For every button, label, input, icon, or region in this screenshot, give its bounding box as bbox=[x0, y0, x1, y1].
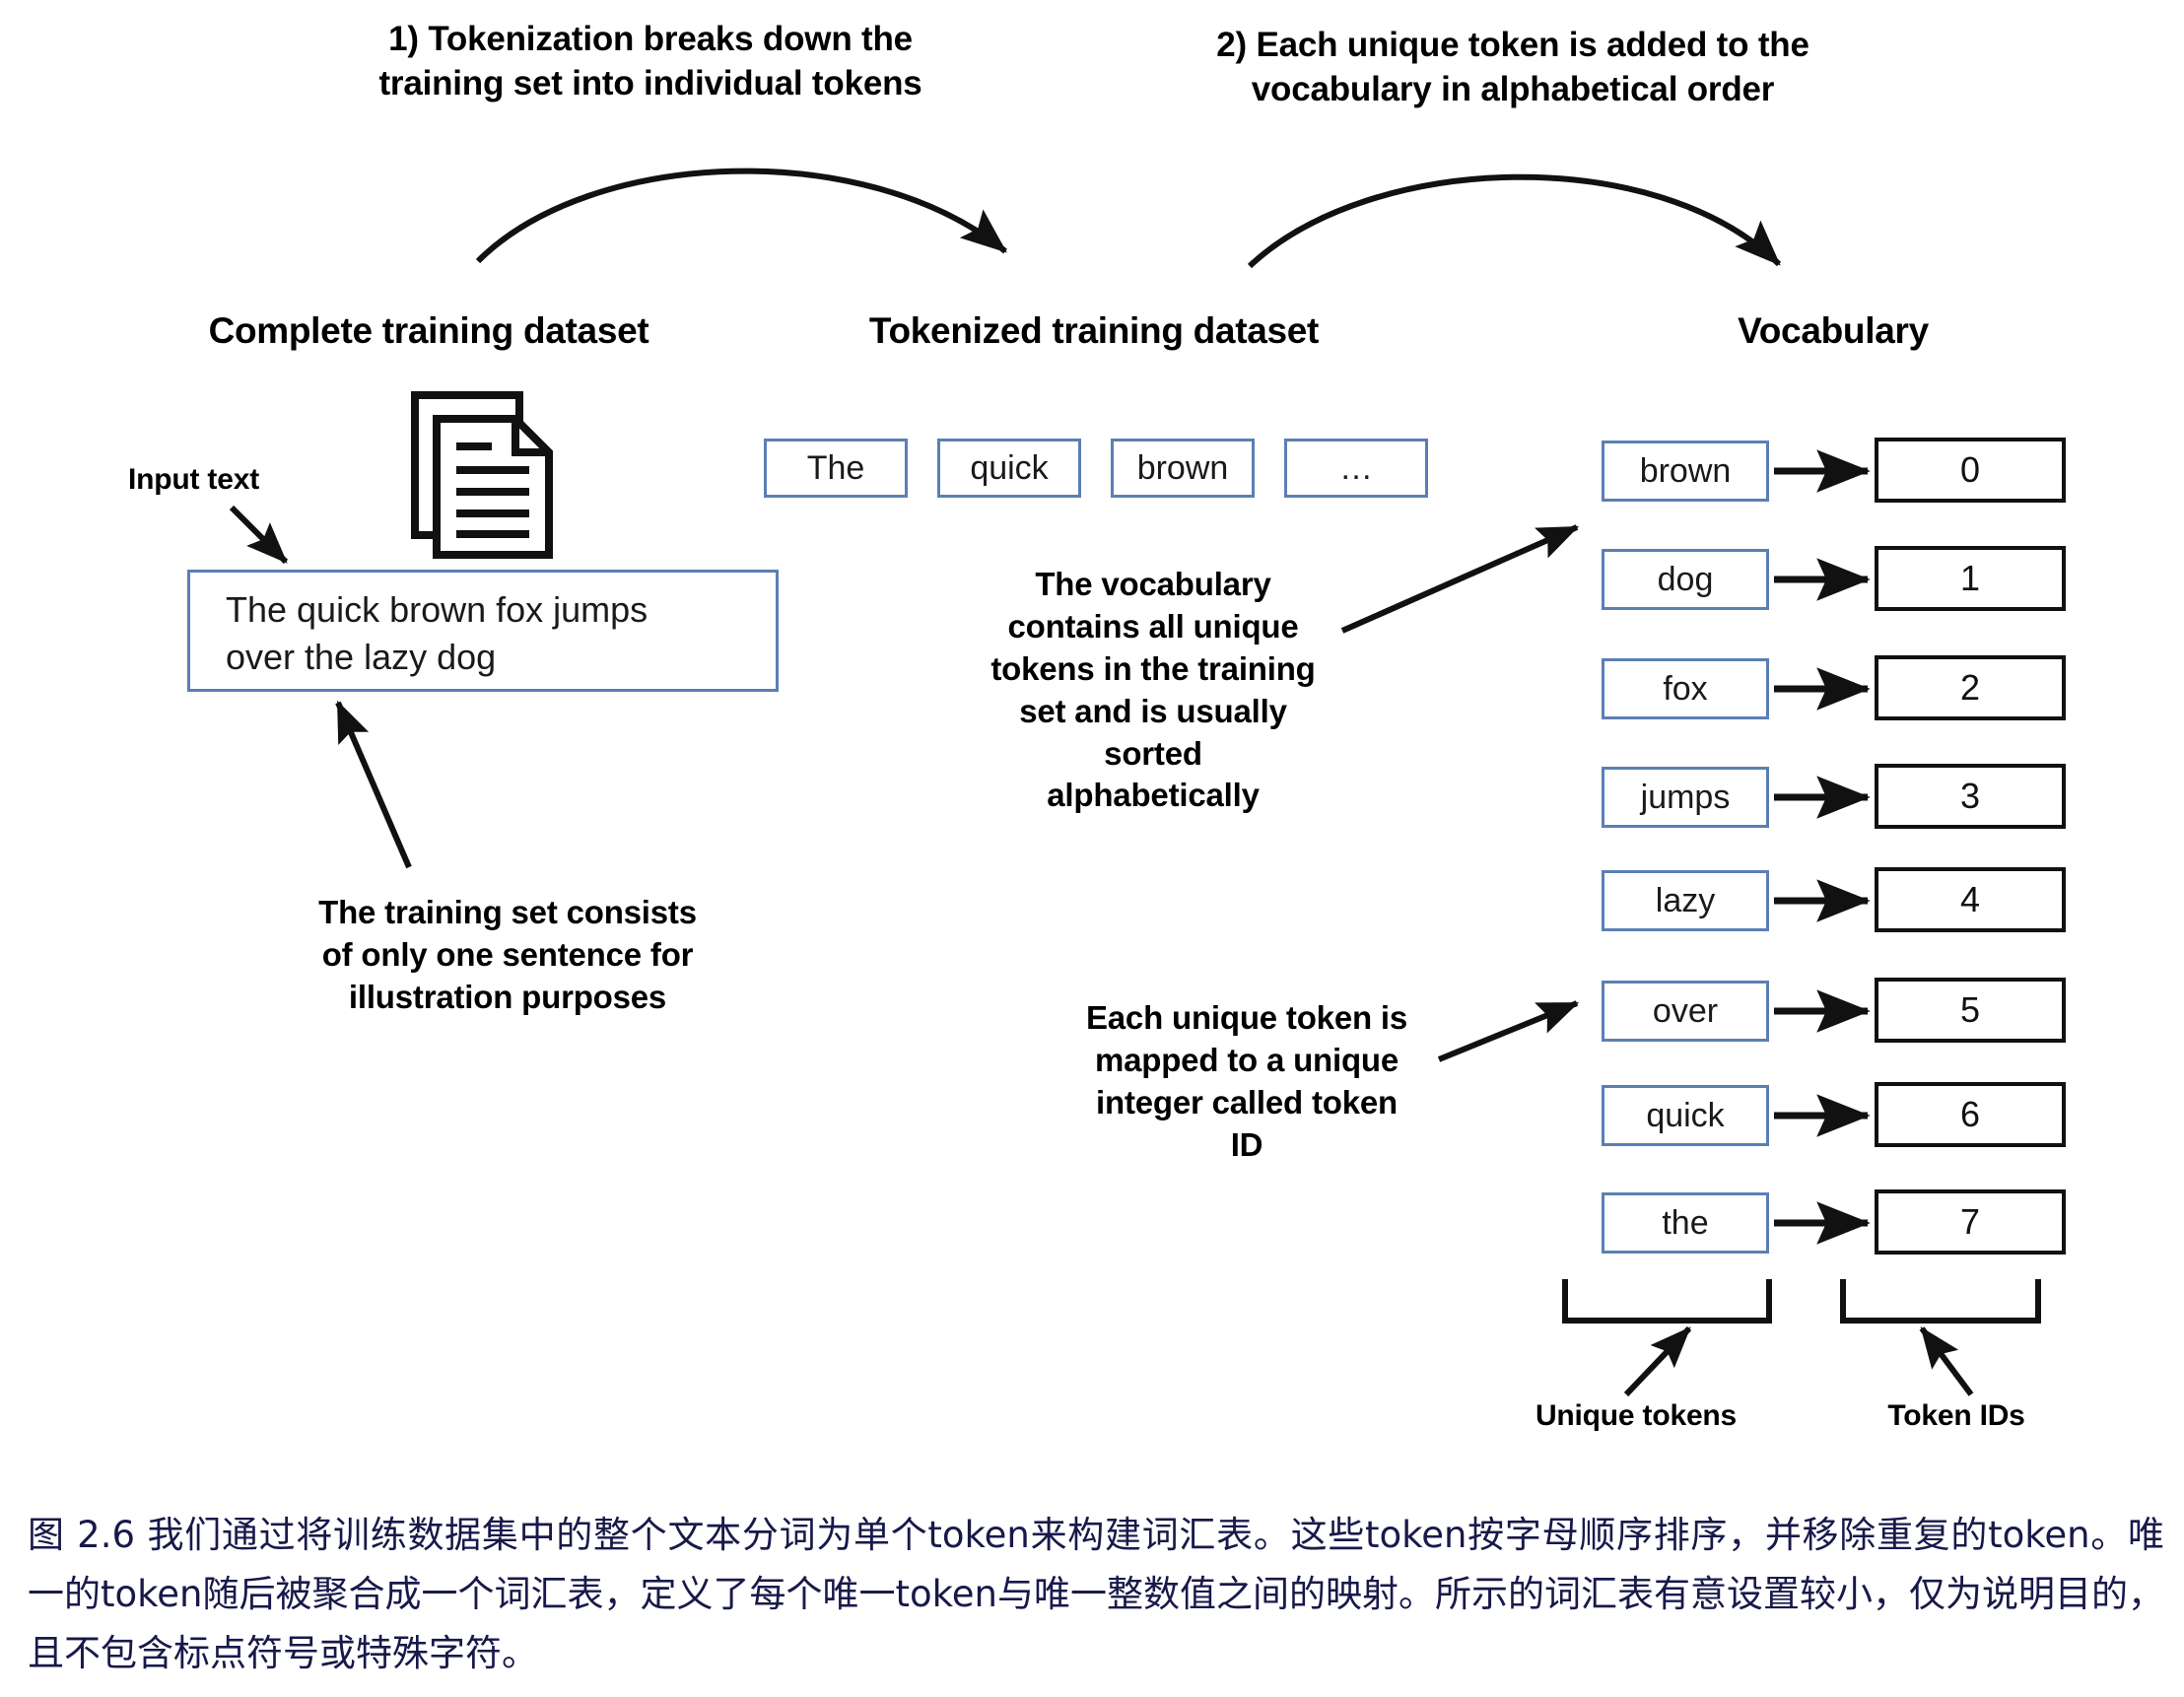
vocab-token-box-6[interactable]: quick bbox=[1602, 1085, 1769, 1146]
input-text-label: Input text bbox=[128, 463, 345, 497]
training-set-note: The training set consists of only one se… bbox=[251, 892, 764, 1019]
step-2-caption: 2) Each unique token is added to the voc… bbox=[1178, 24, 1848, 112]
input-text-box[interactable]: The quick brown fox jumps over the lazy … bbox=[187, 570, 779, 692]
vocab-id-box-1[interactable]: 1 bbox=[1875, 546, 2066, 611]
vocab-id-box-7[interactable]: 7 bbox=[1875, 1189, 2066, 1255]
token-ids-label-arrow bbox=[1922, 1328, 1971, 1394]
documents-icon bbox=[409, 389, 567, 562]
curved-arrow-step2 bbox=[1250, 177, 1779, 266]
vocab-note-line-4: set and is usually bbox=[931, 691, 1375, 733]
vocab-token-box-4[interactable]: lazy bbox=[1602, 870, 1769, 931]
step-2-line-2: vocabulary in alphabetical order bbox=[1178, 68, 1848, 112]
vocab-token-box-2[interactable]: fox bbox=[1602, 658, 1769, 719]
curved-arrow-step1 bbox=[478, 171, 1005, 261]
training-set-note-line-3: illustration purposes bbox=[251, 977, 764, 1019]
vocab-token-box-3[interactable]: jumps bbox=[1602, 767, 1769, 828]
step-1-caption: 1) Tokenization breaks down the training… bbox=[325, 18, 976, 106]
vocab-note-line-5: sorted bbox=[931, 733, 1375, 776]
vocabulary-explanation-note: The vocabulary contains all unique token… bbox=[931, 564, 1375, 817]
input-text-line-2: over the lazy dog bbox=[226, 634, 776, 681]
training-note-pointer-arrow bbox=[338, 703, 409, 867]
vocab-token-box-5[interactable]: over bbox=[1602, 981, 1769, 1042]
input-text-pointer-arrow bbox=[232, 508, 286, 562]
tokenid-note-line-2: mapped to a unique bbox=[1040, 1040, 1454, 1082]
training-set-note-line-1: The training set consists bbox=[251, 892, 764, 934]
vocab-note-line-2: contains all unique bbox=[931, 606, 1375, 648]
figure-canvas: 1) Tokenization breaks down the training… bbox=[0, 0, 2184, 1697]
vocab-id-box-3[interactable]: 3 bbox=[1875, 764, 2066, 829]
token-chip-3[interactable]: … bbox=[1284, 439, 1428, 498]
tokenid-note-line-1: Each unique token is bbox=[1040, 997, 1454, 1040]
token-chip-1[interactable]: quick bbox=[937, 439, 1081, 498]
training-set-note-line-2: of only one sentence for bbox=[251, 934, 764, 977]
tokenid-note-line-4: ID bbox=[1040, 1124, 1454, 1167]
vocab-note-line-3: tokens in the training bbox=[931, 648, 1375, 691]
token-chip-0[interactable]: The bbox=[764, 439, 908, 498]
vocab-note-pointer-arrow bbox=[1342, 527, 1577, 631]
arrow-overlay bbox=[0, 0, 2184, 1697]
vocab-id-box-4[interactable]: 4 bbox=[1875, 867, 2066, 932]
figure-caption: 图 2.6 我们通过将训练数据集中的整个文本分词为单个token来构建词汇表。这… bbox=[28, 1506, 2164, 1683]
vocab-note-line-1: The vocabulary bbox=[931, 564, 1375, 606]
token-chip-2[interactable]: brown bbox=[1111, 439, 1255, 498]
left-column-title: Complete training dataset bbox=[143, 310, 715, 352]
token-ids-bracket bbox=[1843, 1279, 2038, 1321]
token-ids-label: Token IDs bbox=[1833, 1399, 2080, 1433]
vocab-note-line-6: alphabetically bbox=[931, 775, 1375, 817]
token-id-explanation-note: Each unique token is mapped to a unique … bbox=[1040, 997, 1454, 1167]
vocab-id-box-2[interactable]: 2 bbox=[1875, 655, 2066, 720]
right-column-title: Vocabulary bbox=[1626, 310, 2040, 352]
unique-tokens-label-arrow bbox=[1626, 1328, 1689, 1394]
unique-tokens-bracket bbox=[1565, 1279, 1769, 1321]
vocab-token-box-1[interactable]: dog bbox=[1602, 549, 1769, 610]
vocab-id-box-0[interactable]: 0 bbox=[1875, 438, 2066, 503]
tokenid-note-line-3: integer called token bbox=[1040, 1082, 1454, 1124]
step-1-line-2: training set into individual tokens bbox=[325, 62, 976, 106]
tokenid-note-pointer-arrow bbox=[1439, 1003, 1577, 1059]
input-text-line-1: The quick brown fox jumps bbox=[226, 586, 776, 634]
step-1-line-1: 1) Tokenization breaks down the bbox=[325, 18, 976, 62]
unique-tokens-label: Unique tokens bbox=[1488, 1399, 1784, 1433]
vocab-id-box-5[interactable]: 5 bbox=[1875, 978, 2066, 1043]
middle-column-title: Tokenized training dataset bbox=[818, 310, 1370, 352]
vocab-token-box-7[interactable]: the bbox=[1602, 1192, 1769, 1254]
step-2-line-1: 2) Each unique token is added to the bbox=[1178, 24, 1848, 68]
vocab-id-box-6[interactable]: 6 bbox=[1875, 1082, 2066, 1147]
vocab-token-box-0[interactable]: brown bbox=[1602, 441, 1769, 502]
